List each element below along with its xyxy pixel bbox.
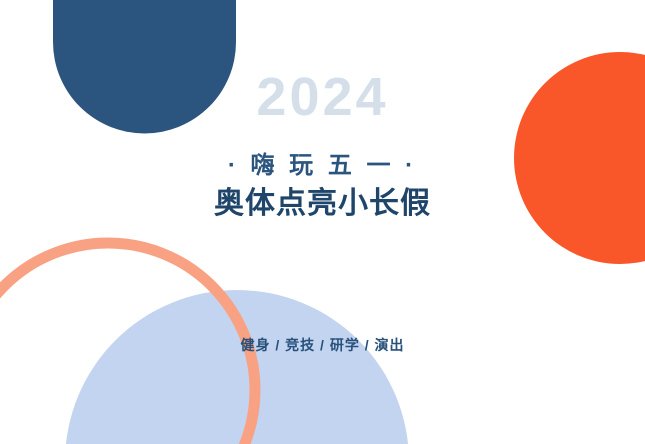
headline-line-1: · 嗨 玩 五 一 · (0, 152, 645, 181)
headline-line-2: 奥体点亮小长假 (0, 186, 645, 222)
tagline: 健身 / 竞技 / 研学 / 演出 (0, 337, 645, 354)
poster-canvas: 2024 · 嗨 玩 五 一 · 奥体点亮小长假 健身 / 竞技 / 研学 / … (0, 0, 645, 444)
text-layer: 2024 · 嗨 玩 五 一 · 奥体点亮小长假 健身 / 竞技 / 研学 / … (0, 0, 645, 444)
year-label: 2024 (0, 70, 645, 124)
